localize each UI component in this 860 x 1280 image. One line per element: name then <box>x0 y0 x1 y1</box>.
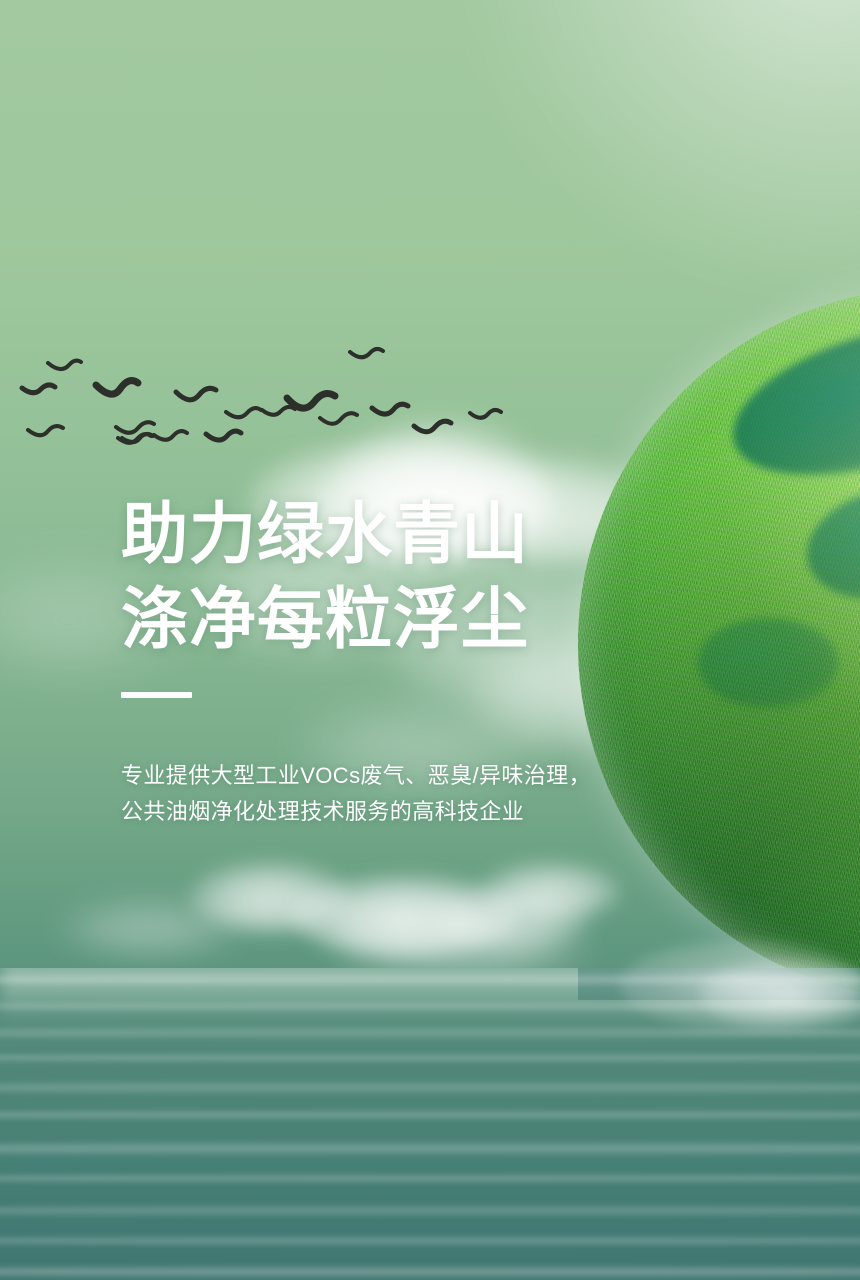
headline-divider <box>121 692 192 698</box>
water-wave <box>0 1080 860 1096</box>
hero-text-block: 助力绿水青山 涤净每粒浮尘 专业提供大型工业VOCs废气、恶臭/异味治理， 公共… <box>121 492 741 830</box>
hero-poster: 助力绿水青山 涤净每粒浮尘 专业提供大型工业VOCs废气、恶臭/异味治理， 公共… <box>0 0 860 1280</box>
subtitle-line-2: 公共油烟净化处理技术服务的高科技企业 <box>121 794 741 830</box>
water-wave <box>0 1268 860 1276</box>
subtitle-block: 专业提供大型工业VOCs废气、恶臭/异味治理， 公共油烟净化处理技术服务的高科技… <box>121 758 741 830</box>
water-wave <box>0 1140 860 1158</box>
water-wave <box>0 1054 860 1062</box>
headline-line-1: 助力绿水青山 <box>121 492 741 577</box>
water-wave <box>0 1204 860 1218</box>
headline-line-2: 涤净每粒浮尘 <box>121 577 741 662</box>
water-wave <box>0 1236 860 1246</box>
water-wave <box>0 1174 860 1183</box>
subtitle-line-1: 专业提供大型工业VOCs废气、恶臭/异味治理， <box>121 758 741 794</box>
water-wave <box>0 1110 860 1120</box>
